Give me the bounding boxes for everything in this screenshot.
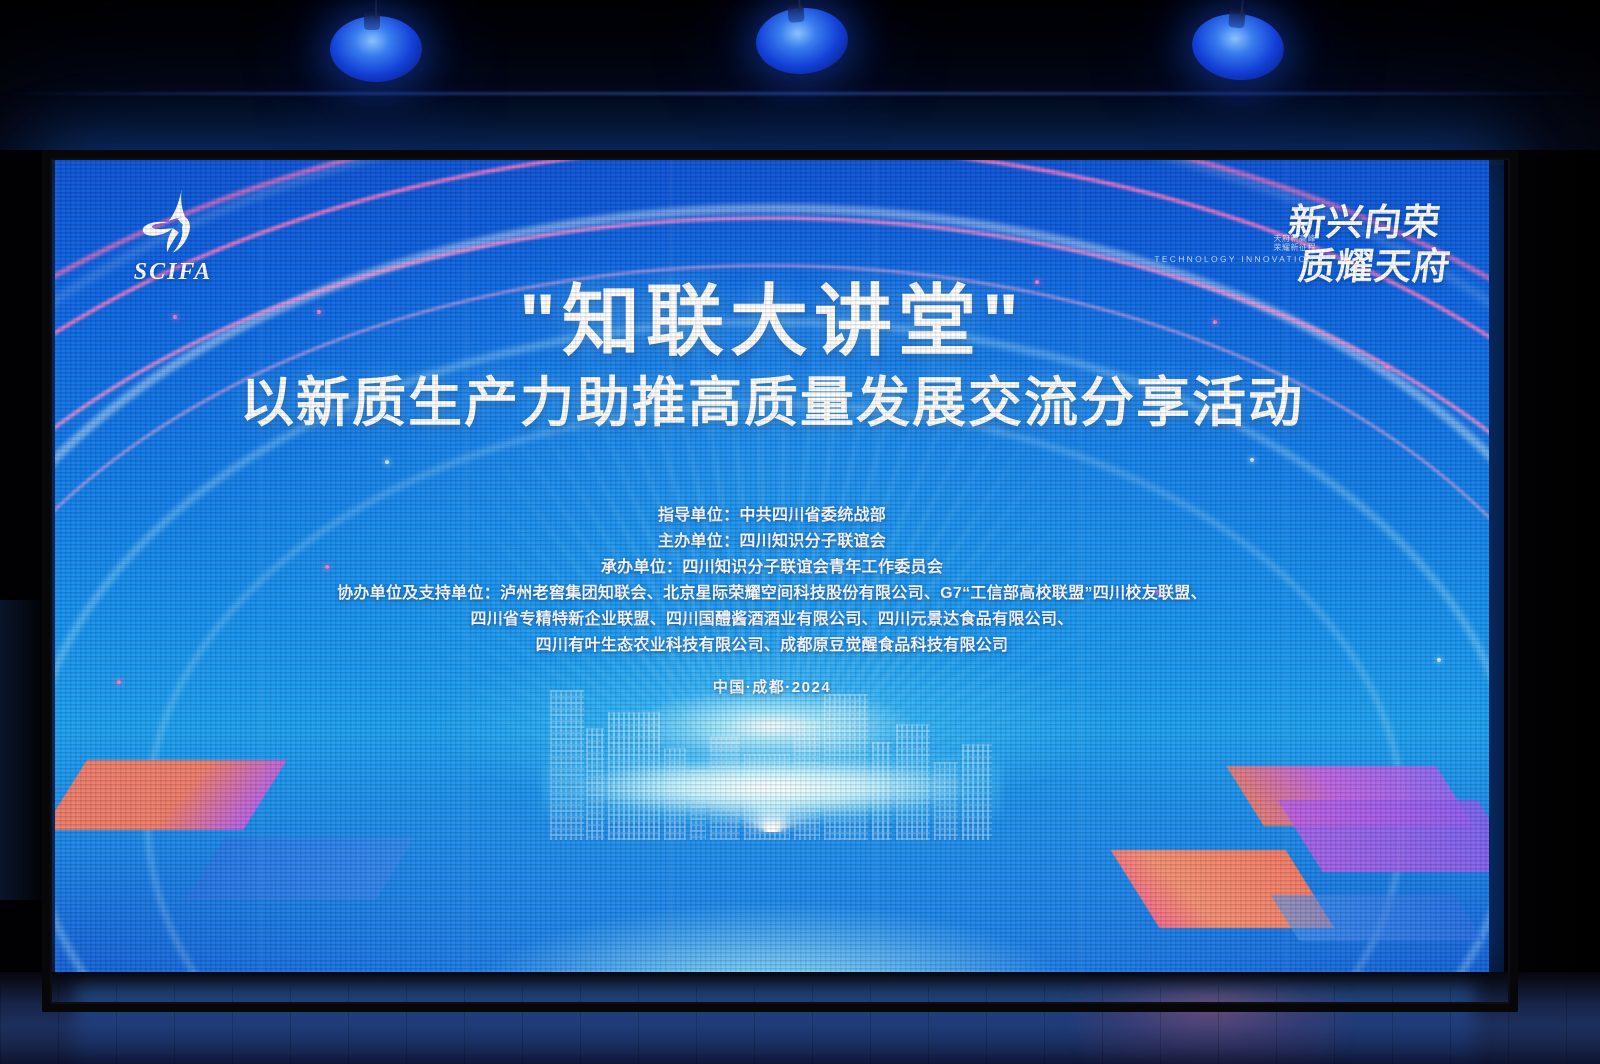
date-location-stamp: 中国·成都·2024 xyxy=(55,676,1489,697)
credits-block: 指导单位：中共四川省委统战部主办单位：四川知识分子联谊会承办单位：四川知识分子联… xyxy=(55,503,1489,658)
credit-line: 主办单位：四川知识分子联谊会 xyxy=(55,529,1489,555)
slogan-subtext: 天府新高峰 荣耀新征程 TECHNOLOGY INNOVATION xyxy=(1154,234,1316,265)
right-wall-shadow xyxy=(1504,150,1600,1020)
screen-content-layer: SCIFA 新兴向荣 天府新高峰 荣耀新征程 TECHNOLOGY INNOVA… xyxy=(55,160,1489,972)
left-wall-glow xyxy=(0,600,46,900)
title-block: "知联大讲堂" 以新质生产力助推高质量发展交流分享活动 xyxy=(55,282,1489,430)
stage-floor-planks xyxy=(0,986,1600,1064)
credit-line: 承办单位：四川知识分子联谊会青年工作委员会 xyxy=(55,555,1489,581)
ceiling-seam xyxy=(0,92,1600,95)
spotlight-left-icon xyxy=(330,16,422,82)
slogan-sub-en: TECHNOLOGY INNOVATION xyxy=(1154,255,1316,265)
credit-line: 指导单位：中共四川省委统战部 xyxy=(55,503,1489,529)
credit-line: 协办单位及支持单位：泸州老窖集团知联会、北京星际荣耀空间科技股份有限公司、G7“… xyxy=(55,581,1489,607)
slogan-sub-cn-2: 荣耀新征程 xyxy=(1154,243,1316,252)
event-slogan-lockup: 新兴向荣 天府新高峰 荣耀新征程 TECHNOLOGY INNOVATION 质… xyxy=(1151,192,1451,284)
page-subtitle: 以新质生产力助推高质量发展交流分享活动 xyxy=(55,376,1489,430)
credit-line: 四川省专精特新企业联盟、四川国醴酱酒酒业有限公司、四川元景达食品有限公司、 xyxy=(55,607,1489,633)
slogan-sub-cn-1: 天府新高峰 xyxy=(1154,234,1316,243)
stage-scene: SCIFA 新兴向荣 天府新高峰 荣耀新征程 TECHNOLOGY INNOVA… xyxy=(0,0,1600,1064)
credit-line: 四川有叶生态农业科技有限公司、成都原豆觉醒食品科技有限公司 xyxy=(55,633,1489,659)
scifa-logo: SCIFA xyxy=(113,185,233,286)
page-title: "知联大讲堂" xyxy=(55,282,1489,360)
led-backdrop-screen: SCIFA 新兴向荣 天府新高峰 荣耀新征程 TECHNOLOGY INNOVA… xyxy=(55,160,1489,972)
scifa-bird-swoosh-mark xyxy=(136,185,210,257)
